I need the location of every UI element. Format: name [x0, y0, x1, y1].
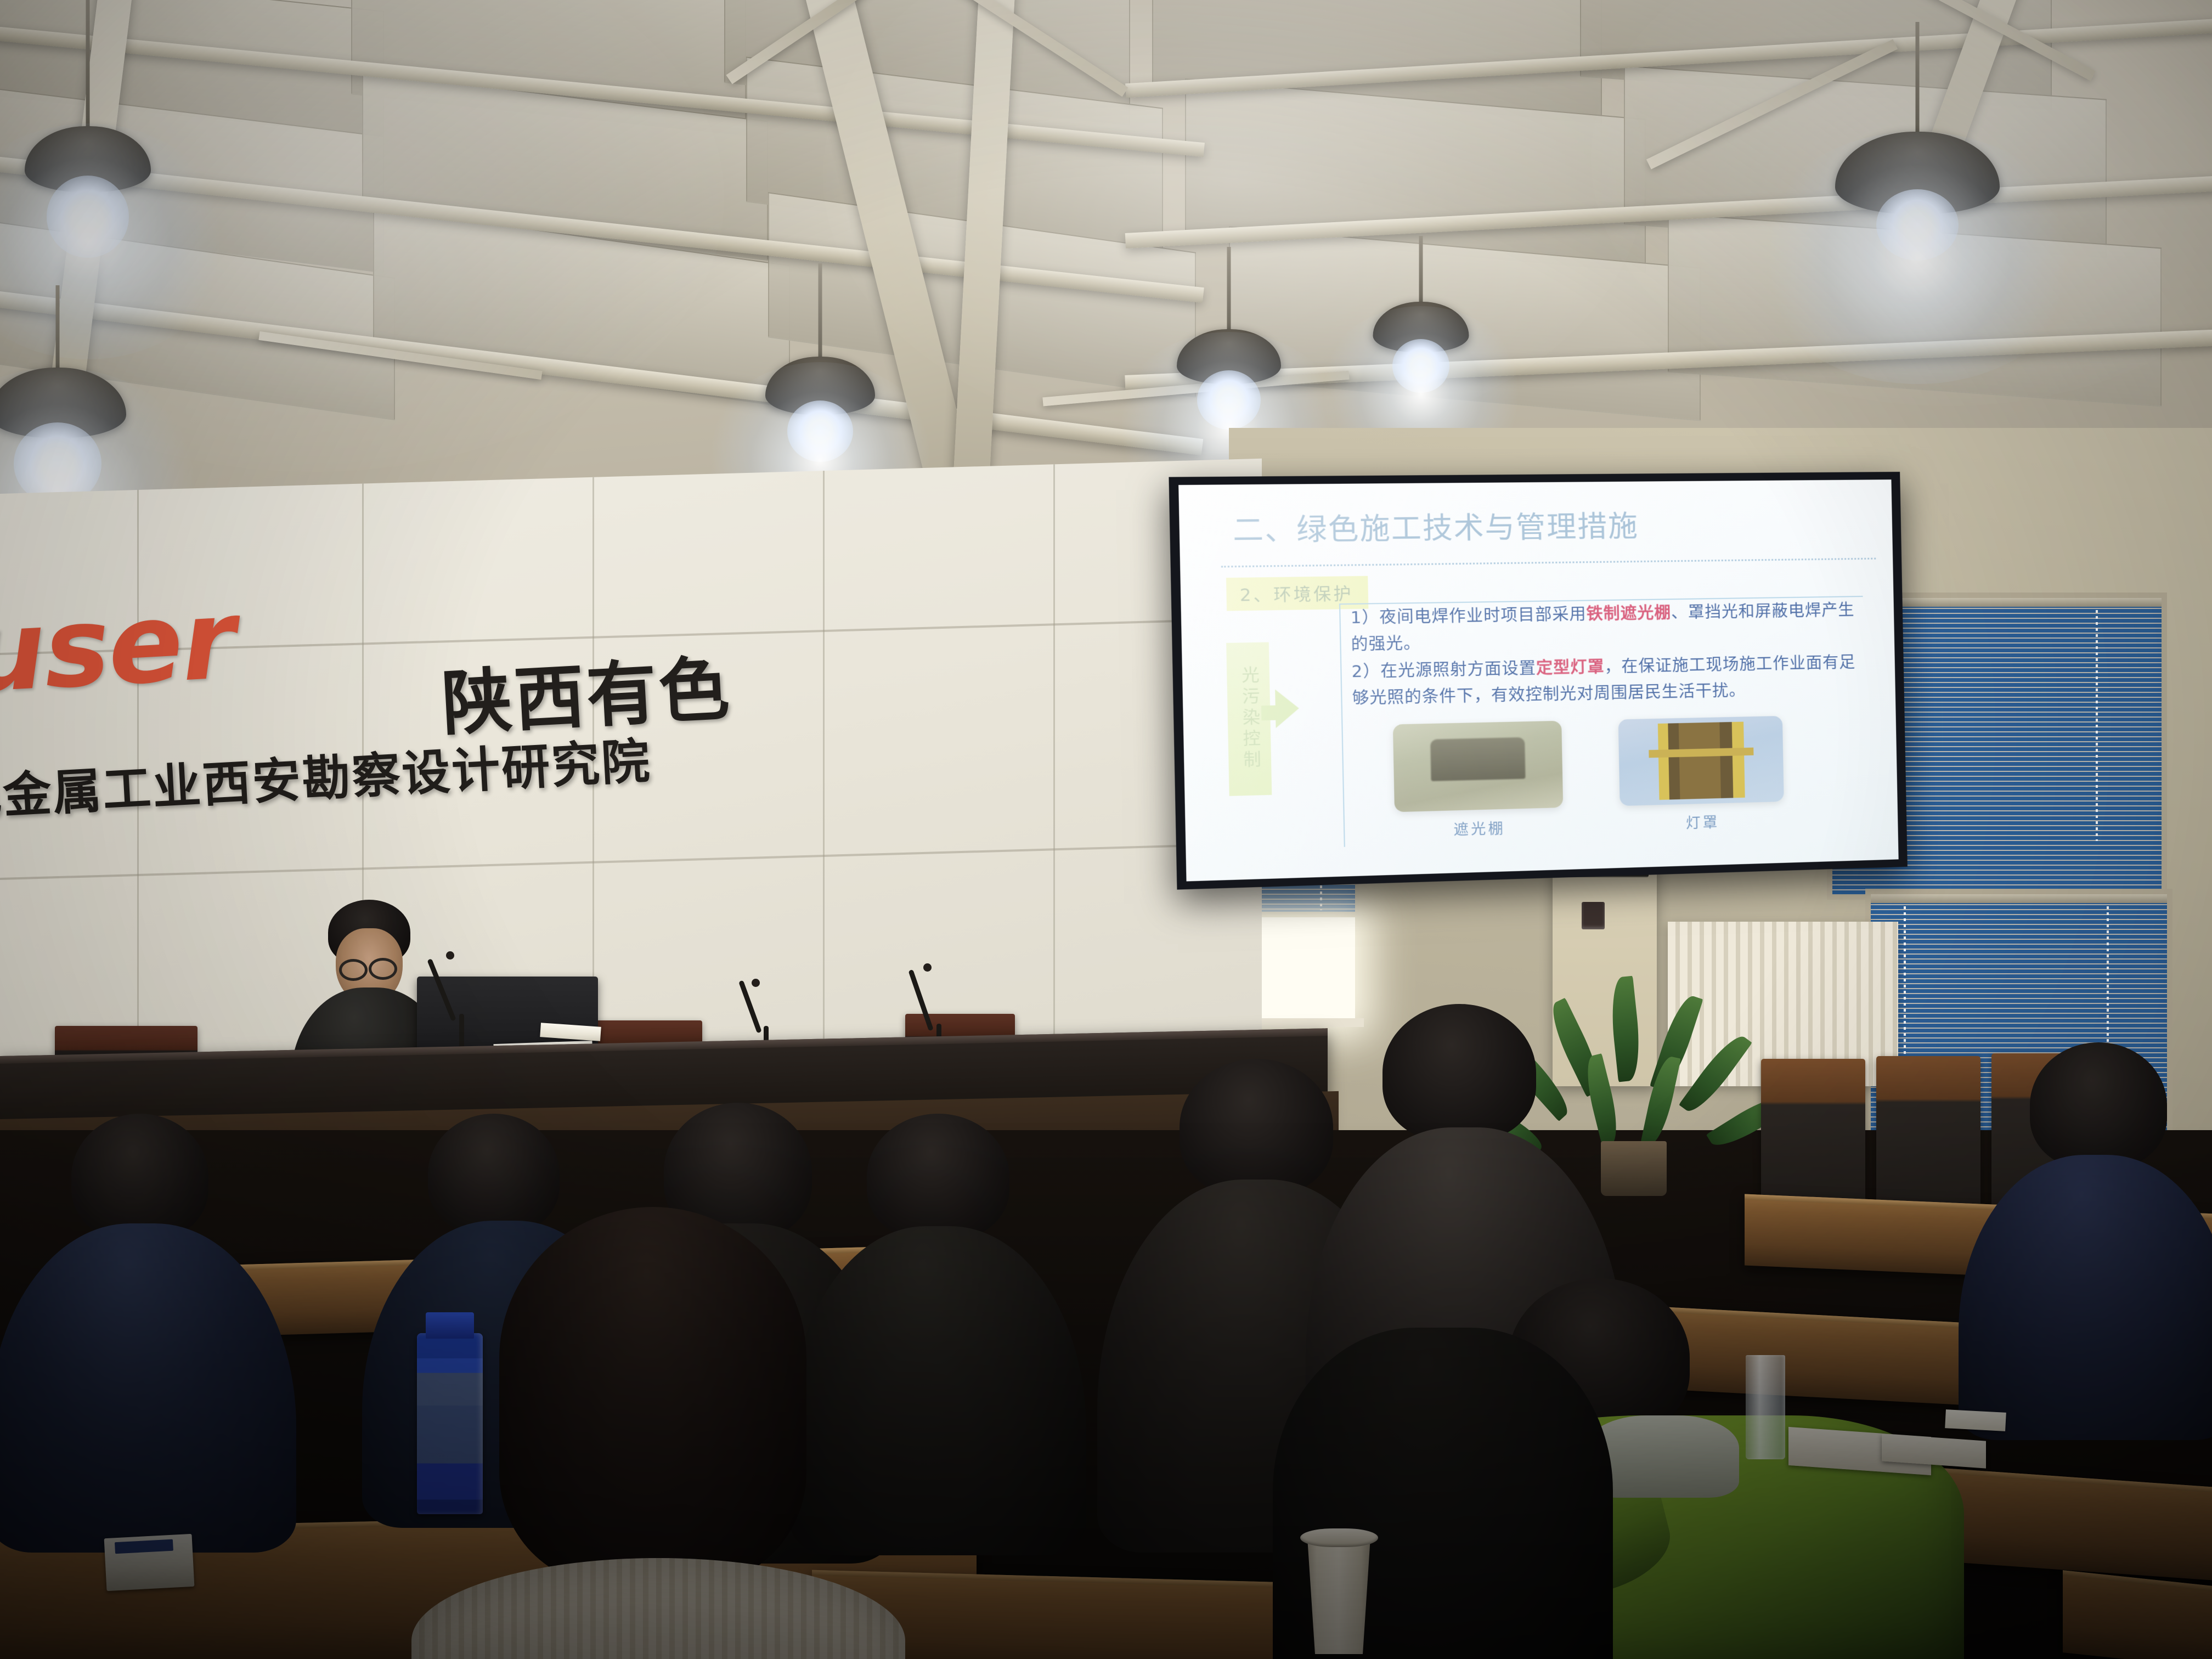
audience-hair	[2030, 1042, 2167, 1169]
audience-long-hair	[499, 1207, 806, 1585]
bottle-cap	[426, 1312, 474, 1339]
paper-cup-rim	[1300, 1528, 1378, 1547]
speaker-glasses-right	[369, 958, 397, 980]
slide-p2-highlight: 定型灯罩	[1536, 657, 1605, 678]
slide-p1-highlight: 铁制遮光棚	[1586, 603, 1671, 623]
speaker-glasses	[339, 959, 368, 981]
audience-hair	[1383, 1004, 1536, 1141]
audience-person-left-1	[11, 1114, 269, 1531]
paper-right-edge	[1945, 1409, 2006, 1431]
slide-photo-shading-shed	[1393, 720, 1564, 812]
cigarette-pack[interactable]	[104, 1534, 195, 1591]
conference-room-photo: ouser 陕西有色 有色金属工业西安勘察设计研究院 二、绿色施工技术与管理措施…	[0, 0, 2212, 1659]
pendant-lamp-5	[1827, 22, 2008, 274]
slide-p2-prefix: 2）在光源照射方面设置	[1351, 658, 1536, 681]
pendant-lamp-6	[1366, 236, 1476, 433]
audience-torso	[0, 1223, 296, 1553]
sign-english-logo: ouser	[0, 588, 237, 710]
bench-row-far-right	[2063, 1570, 2212, 1659]
slide-paragraph-2: 2）在光源照射方面设置定型灯罩，在保证施工现场施工作业面有足够光照的条件下，有效…	[1351, 649, 1868, 712]
slide-p1-prefix: 1）夜间电焊作业时项目部采用	[1350, 605, 1587, 628]
audience-sweater	[411, 1558, 905, 1659]
slide-sidebar-label: 光污染控制	[1235, 666, 1263, 772]
audience-hair	[71, 1114, 208, 1240]
water-bottle[interactable]	[417, 1333, 483, 1514]
spare-chair-2	[1876, 1056, 1980, 1221]
slide-title: 二、绿色施工技术与管理措施	[1232, 503, 1639, 549]
presentation-slide: 二、绿色施工技术与管理措施 2、环境保护 光污染控制 1）夜间电焊作业时项目部采…	[1178, 479, 1899, 881]
slide-paragraph-1: 1）夜间电焊作业时项目部采用铁制遮光棚、罩挡光和屏蔽电焊产生的强光。	[1350, 597, 1867, 658]
slide-photo-lampshade	[1618, 715, 1784, 806]
projection-screen[interactable]: 二、绿色施工技术与管理措施 2、环境保护 光污染控制 1）夜间电焊作业时项目部采…	[1169, 472, 1907, 890]
audience-person-right-notebook	[1980, 1042, 2212, 1426]
screen-frame: 二、绿色施工技术与管理措施 2、环境保护 光污染控制 1）夜间电焊作业时项目部采…	[1169, 472, 1907, 890]
company-wall-sign: ouser	[0, 588, 237, 710]
pendant-lamp-3	[757, 263, 883, 494]
plant-pot	[1601, 1141, 1667, 1196]
audience-torso	[1959, 1155, 2212, 1440]
pendant-lamp-1	[16, 0, 159, 329]
slide-title-divider	[1221, 557, 1876, 567]
water-glass[interactable]	[1746, 1355, 1785, 1459]
audience-hair	[1180, 1059, 1333, 1196]
slide-arrow-icon	[1275, 689, 1299, 728]
